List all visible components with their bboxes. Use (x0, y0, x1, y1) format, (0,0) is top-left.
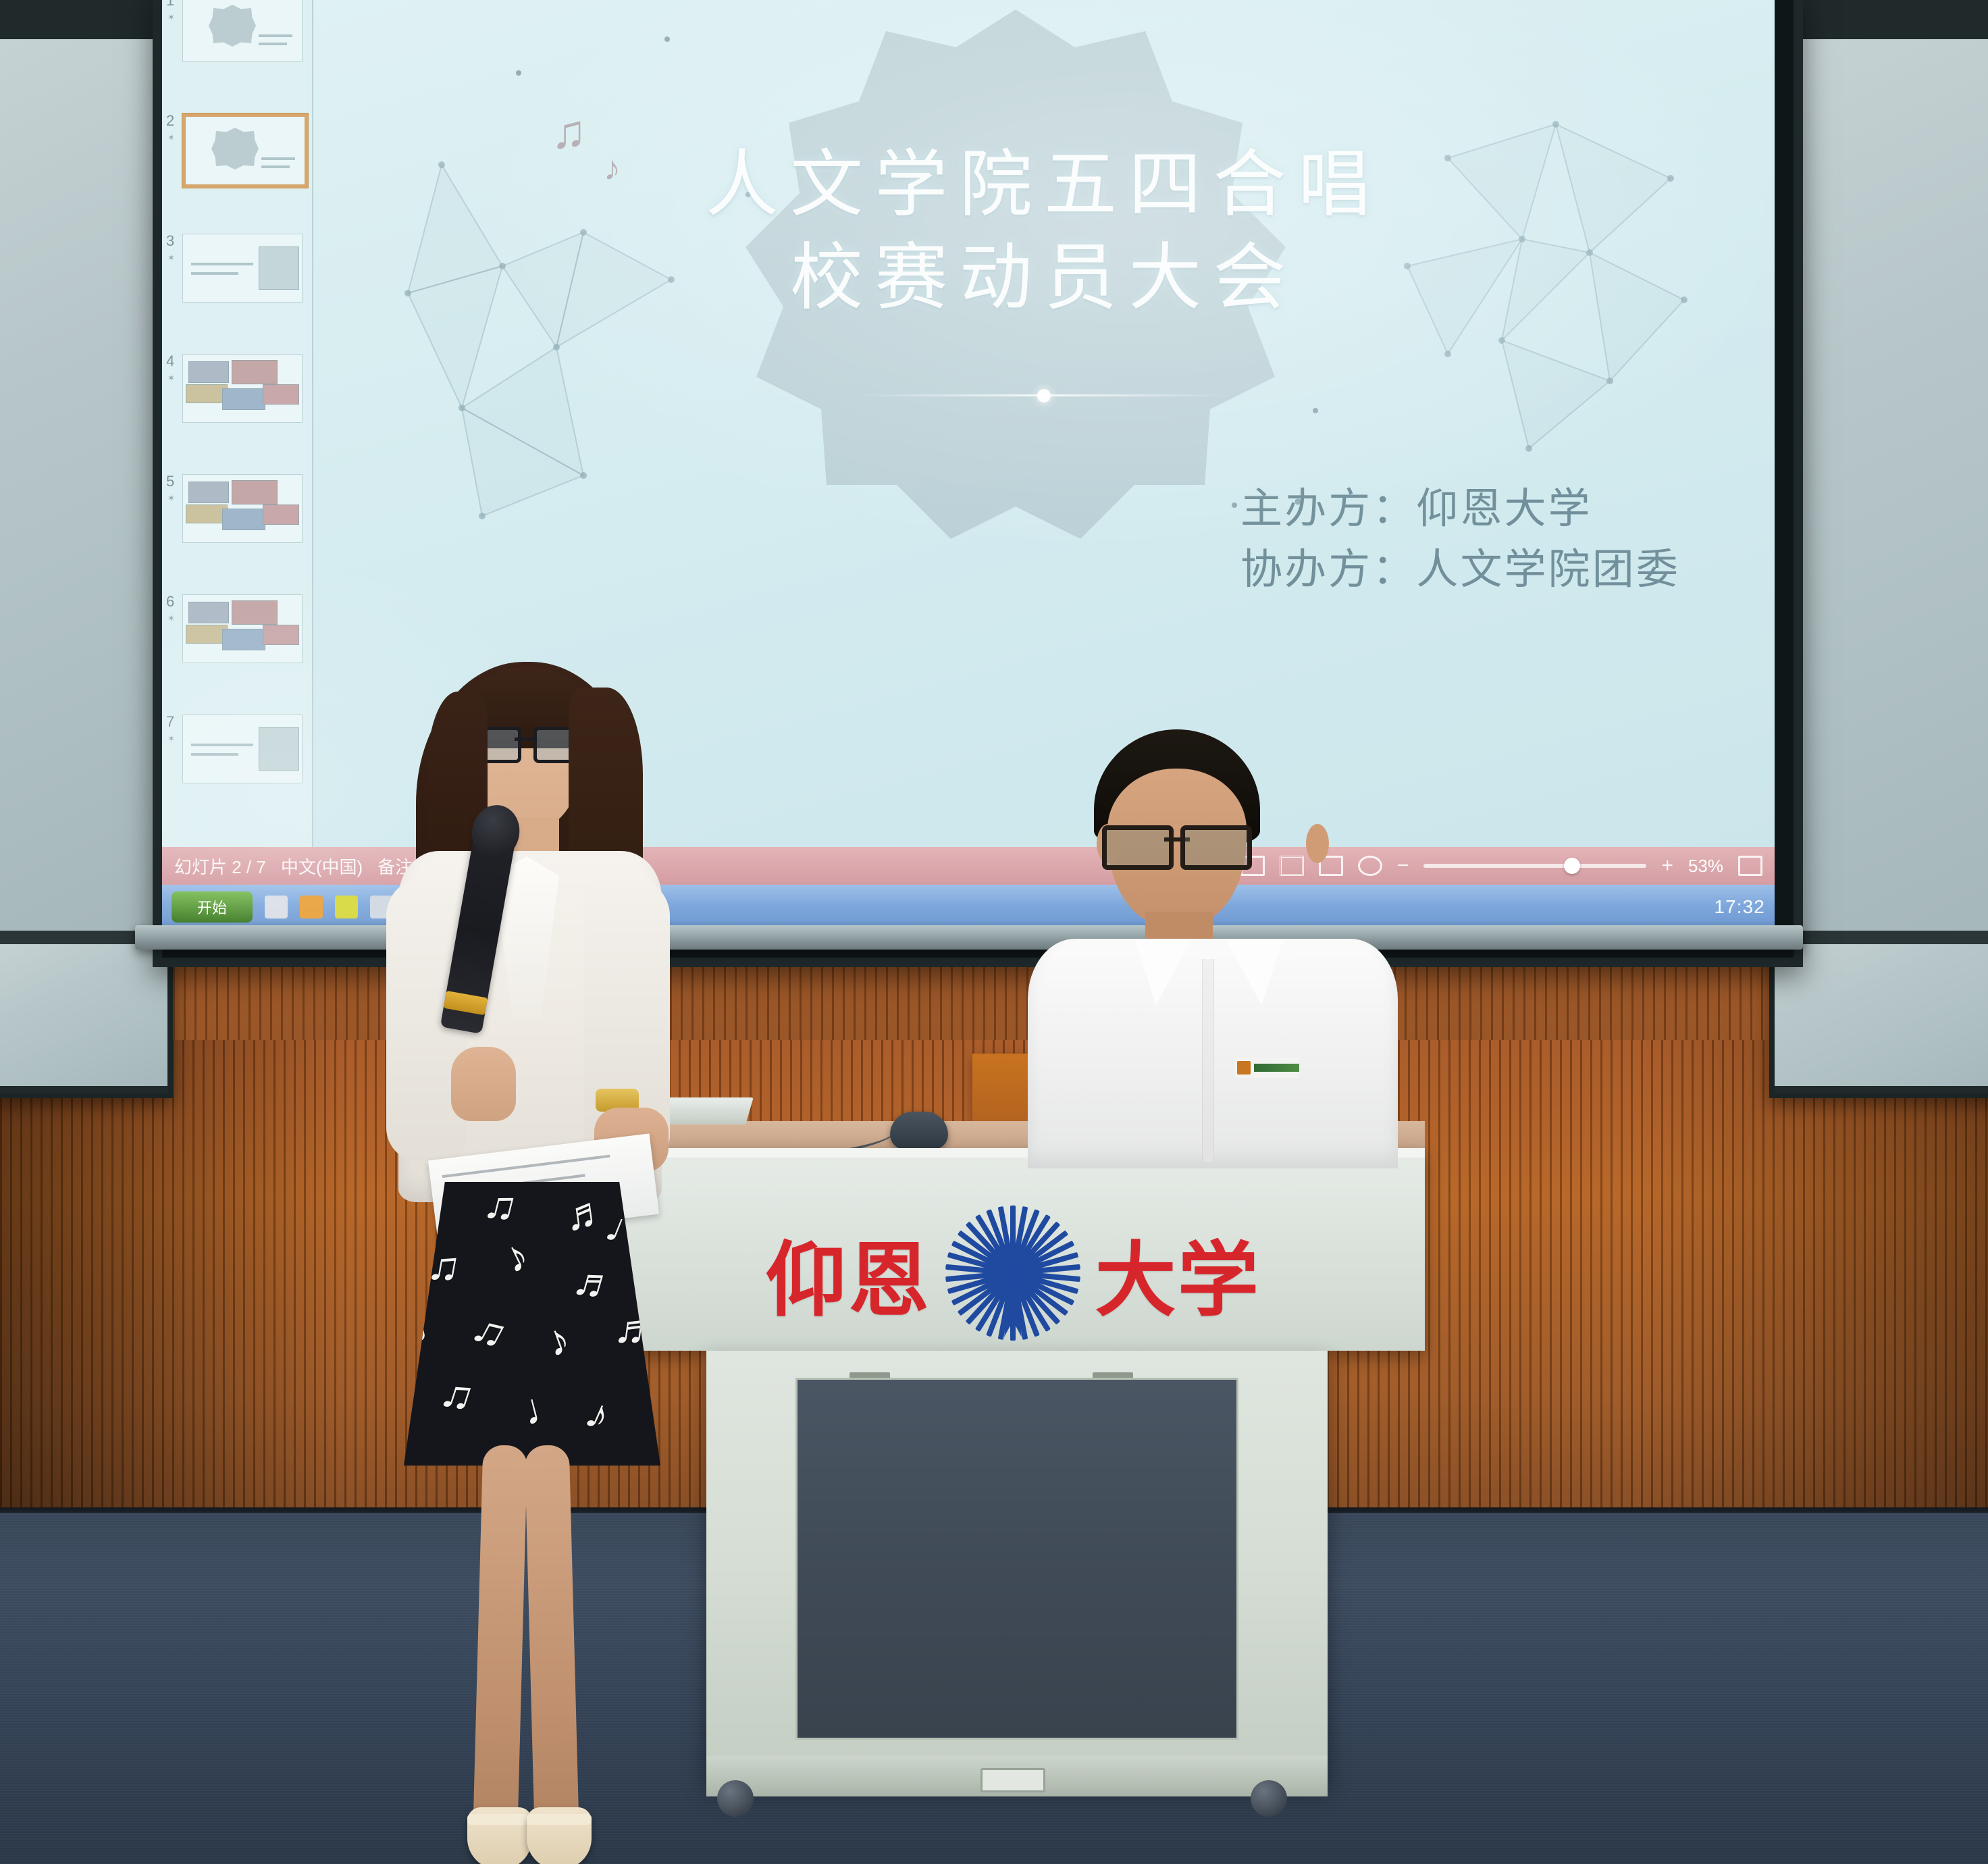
thumbnail-card (232, 600, 278, 625)
thumbnail-number: 2 (166, 112, 174, 130)
thumbnail-preview[interactable] (182, 0, 303, 62)
thumbnail-number: 5 (166, 473, 174, 490)
podium-caster (717, 1780, 754, 1817)
slide-thumbnail-2[interactable]: 2✶ (162, 109, 312, 230)
animation-star-icon: ✶ (167, 493, 175, 504)
thumbnail-card (263, 504, 299, 525)
animation-star-icon: ✶ (167, 373, 175, 384)
host-leg-left (473, 1445, 528, 1824)
host-music-note-skirt: ♪♫♬♩♫♪♬♩♫♪♬♫♩♪ (404, 1182, 660, 1466)
low-poly-network-left (381, 124, 732, 543)
taskbar-app-icon[interactable] (265, 896, 288, 918)
zoom-level-label[interactable]: 53% (1688, 856, 1723, 877)
speck (664, 36, 670, 42)
female-host: ♪♫♬♩♫♪♬♩♫♪♬♫♩♪ (351, 648, 702, 1864)
skirt-music-note: ♫ (436, 1368, 479, 1420)
thumbnail-card (263, 625, 299, 645)
organizer-block: 主办方：仰恩大学 协办方：人文学院团委 (1240, 479, 1680, 600)
slide-thumbnail-1[interactable]: 1✶ (162, 0, 312, 109)
taskbar-clock[interactable]: 17:32 (1714, 896, 1765, 918)
thumbnail-card (232, 480, 278, 504)
male-operator (1024, 729, 1402, 1162)
wall-shadow-right (1637, 1040, 1988, 1553)
operator-ear-right (1306, 824, 1329, 863)
speck (1232, 502, 1237, 508)
slide-thumbnail-5[interactable]: 5✶ (162, 470, 312, 590)
slide-thumbnail-6[interactable]: 6✶ (162, 590, 312, 710)
thumbnail-card (188, 361, 229, 383)
animation-star-icon: ✶ (167, 733, 175, 744)
thumbnail-card (222, 629, 265, 650)
thumbnail-number: 7 (166, 713, 174, 731)
thumbnail-number: 1 (166, 0, 174, 9)
university-emblem-icon (954, 1204, 1072, 1343)
operator-shirt-placket (1202, 959, 1214, 1162)
whiteboard-left-surface-top (0, 39, 167, 931)
thumbnail-number: 4 (166, 353, 174, 370)
thumbnail-card (186, 625, 228, 644)
thumbnail-card (188, 482, 229, 503)
low-poly-network-right (1367, 97, 1745, 516)
skirt-music-note: ♫ (425, 1241, 464, 1289)
thumbnail-card (186, 384, 228, 403)
badge-emblem-icon (1237, 1061, 1251, 1075)
skirt-music-note: ♪ (540, 1316, 575, 1364)
operator-eyeglasses-icon (1102, 825, 1252, 862)
thumbnail-text-line (259, 43, 287, 45)
thumbnail-card (186, 504, 228, 523)
skirt-music-note: ♬ (612, 1305, 660, 1353)
thumbnail-preview[interactable] (182, 594, 303, 663)
skirt-music-note: ♩ (518, 1380, 571, 1432)
slide-thumbnail-rail[interactable]: 1✶2✶3✶4✶5✶6✶7✶ (162, 0, 313, 847)
wall-shadow-left (0, 1040, 351, 1553)
animation-star-icon: ✶ (167, 613, 175, 624)
thumbnail-text-line (191, 272, 238, 275)
whiteboard-right-hinge (1775, 931, 1988, 946)
thumbnail-card (188, 602, 229, 623)
thumbnail-number: 3 (166, 232, 174, 250)
thumbnail-preview[interactable] (182, 234, 303, 303)
thumbnail-text-line (191, 744, 253, 746)
animation-star-icon: ✶ (167, 253, 175, 263)
thumbnail-text-line (191, 263, 253, 265)
presentation-scene: 1✶2✶3✶4✶5✶6✶7✶ (0, 0, 1988, 1864)
skirt-music-note: ♫ (466, 1303, 515, 1357)
skirt-music-note: ♫ (480, 1182, 522, 1230)
microphone-gold-band (444, 991, 488, 1015)
thumbnail-card (263, 384, 299, 405)
skirt-music-note: ♬ (569, 1256, 622, 1310)
animation-star-icon: ✶ (167, 12, 175, 23)
thumbnail-text-line (259, 34, 292, 37)
host-hand-holding-mic (451, 1047, 516, 1121)
cabinet-latch[interactable] (980, 1768, 1045, 1792)
host-shoe-right (527, 1807, 592, 1864)
slide-indicator: 幻灯片 2 / 7 (174, 854, 266, 879)
zoom-slider[interactable] (1423, 864, 1646, 868)
operator-name-badge (1234, 1058, 1299, 1078)
host-leg-right (525, 1445, 579, 1824)
thumbnail-preview[interactable] (182, 715, 303, 783)
computer-mouse[interactable] (890, 1112, 948, 1149)
thumbnail-text-line (261, 165, 290, 168)
host-shoe-left (467, 1807, 532, 1864)
speck (516, 70, 521, 76)
thumbnail-badge-shape (209, 5, 256, 47)
thumbnail-text-line (191, 753, 238, 756)
brand-text-left: 仰恩 (766, 1214, 931, 1332)
whiteboard-right-surface-bottom (1775, 944, 1988, 1086)
music-note-decoration-1: ♫ (551, 108, 587, 155)
slide-thumbnail-7[interactable]: 7✶ (162, 710, 312, 831)
speck (1313, 408, 1318, 413)
title-divider-dot (1037, 389, 1051, 403)
whiteboard-left-surface-bottom (0, 944, 167, 1086)
brand-text-right: 大学 (1095, 1214, 1261, 1332)
fit-to-window-button[interactable] (1738, 856, 1762, 876)
thumbnail-card (232, 360, 278, 384)
thumbnail-preview[interactable] (182, 474, 303, 543)
podium-cabinet-door[interactable] (795, 1378, 1238, 1740)
skirt-music-note: ♪ (497, 1232, 535, 1280)
podium-brand-logo: 仰恩 大学 (601, 1195, 1425, 1351)
start-button[interactable]: 开始 (172, 891, 253, 923)
thumbnail-preview[interactable] (182, 354, 303, 423)
thumbnail-card (222, 509, 265, 530)
speck (745, 192, 751, 197)
slide-thumbnail-4[interactable]: 4✶ (162, 350, 312, 470)
organizer-line-1: 主办方：仰恩大学 (1240, 479, 1680, 540)
slide-thumbnail-3[interactable]: 3✶ (162, 230, 312, 350)
lens-left (1102, 825, 1174, 870)
badge-text-bar (1254, 1064, 1299, 1072)
thumbnail-number: 6 (166, 593, 174, 611)
thumbnail-badge-shape (211, 128, 259, 170)
taskbar-app-icon[interactable] (300, 896, 323, 918)
music-note-decoration-2: ♪ (604, 151, 621, 185)
skirt-music-note: ♬ (562, 1189, 610, 1237)
thumbnail-card (222, 388, 265, 410)
animation-star-icon: ✶ (167, 132, 175, 143)
zoom-in-button[interactable]: + (1661, 856, 1673, 876)
language-indicator[interactable]: 中文(中国) (281, 854, 363, 879)
skirt-music-note: ♪ (579, 1390, 617, 1438)
lens-right (1180, 825, 1252, 870)
organizer-line-2: 协办方：人文学院团委 (1240, 540, 1680, 600)
polygon-badge-decoration (745, 9, 1286, 550)
zoom-slider-handle[interactable] (1564, 858, 1580, 874)
thumbnail-preview[interactable] (182, 113, 308, 188)
thumbnail-image (259, 247, 299, 290)
shoe-strap (467, 1814, 532, 1825)
skirt-music-note: ♩ (407, 1298, 458, 1349)
thumbnail-text-line (261, 157, 295, 160)
podium-caster (1251, 1780, 1287, 1817)
thumbnail-image (259, 727, 299, 771)
whiteboard-right-surface-top (1775, 39, 1988, 931)
shoe-strap (527, 1814, 592, 1825)
